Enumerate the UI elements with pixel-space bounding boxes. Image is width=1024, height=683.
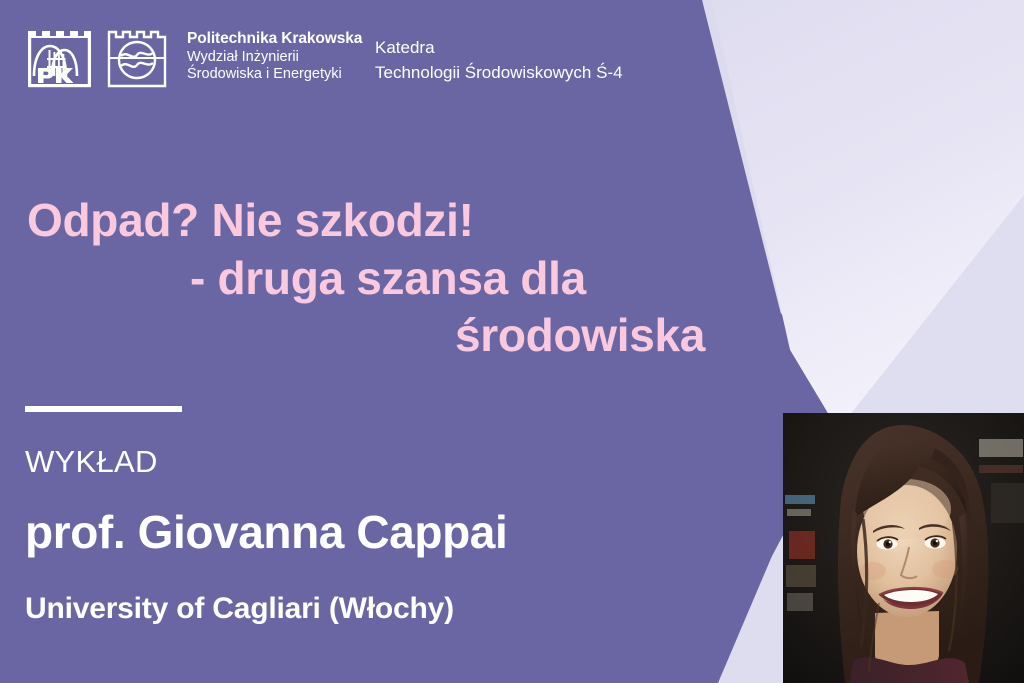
title-line-2: - druga szansa dla bbox=[0, 250, 800, 308]
title-line-3: środowiska bbox=[0, 307, 800, 365]
speaker-name: prof. Giovanna Cappai bbox=[25, 505, 507, 559]
department-line-2: Technologii Środowiskowych Ś-4 bbox=[375, 61, 623, 86]
poster-title: Odpad? Nie szkodzi! - druga szansa dla ś… bbox=[0, 192, 800, 365]
divider-rule bbox=[25, 406, 182, 412]
university-line-2: Wydział Inżynierii bbox=[187, 49, 362, 66]
lecture-kicker: WYKŁAD bbox=[25, 444, 158, 480]
university-line-1: Politechnika Krakowska bbox=[187, 30, 362, 49]
portrait-photo-image bbox=[783, 413, 1024, 683]
lecture-announcement-poster: Politechnika Krakowska Wydział Inżynieri… bbox=[0, 0, 1024, 683]
university-name-block: Politechnika Krakowska Wydział Inżynieri… bbox=[187, 28, 362, 83]
faculty-castle-logo-icon bbox=[106, 28, 168, 90]
speaker-affiliation: University of Cagliari (Włochy) bbox=[25, 592, 454, 626]
department-block: Katedra Technologii Środowiskowych Ś-4 bbox=[375, 36, 623, 85]
title-line-1: Odpad? Nie szkodzi! bbox=[0, 192, 800, 250]
logo-row: Politechnika Krakowska Wydział Inżynieri… bbox=[25, 28, 362, 90]
speaker-portrait bbox=[783, 413, 1024, 683]
university-line-3: Środowiska i Energetyki bbox=[187, 66, 362, 83]
department-line-1: Katedra bbox=[375, 36, 623, 61]
pk-bridge-logo-icon bbox=[25, 28, 93, 90]
